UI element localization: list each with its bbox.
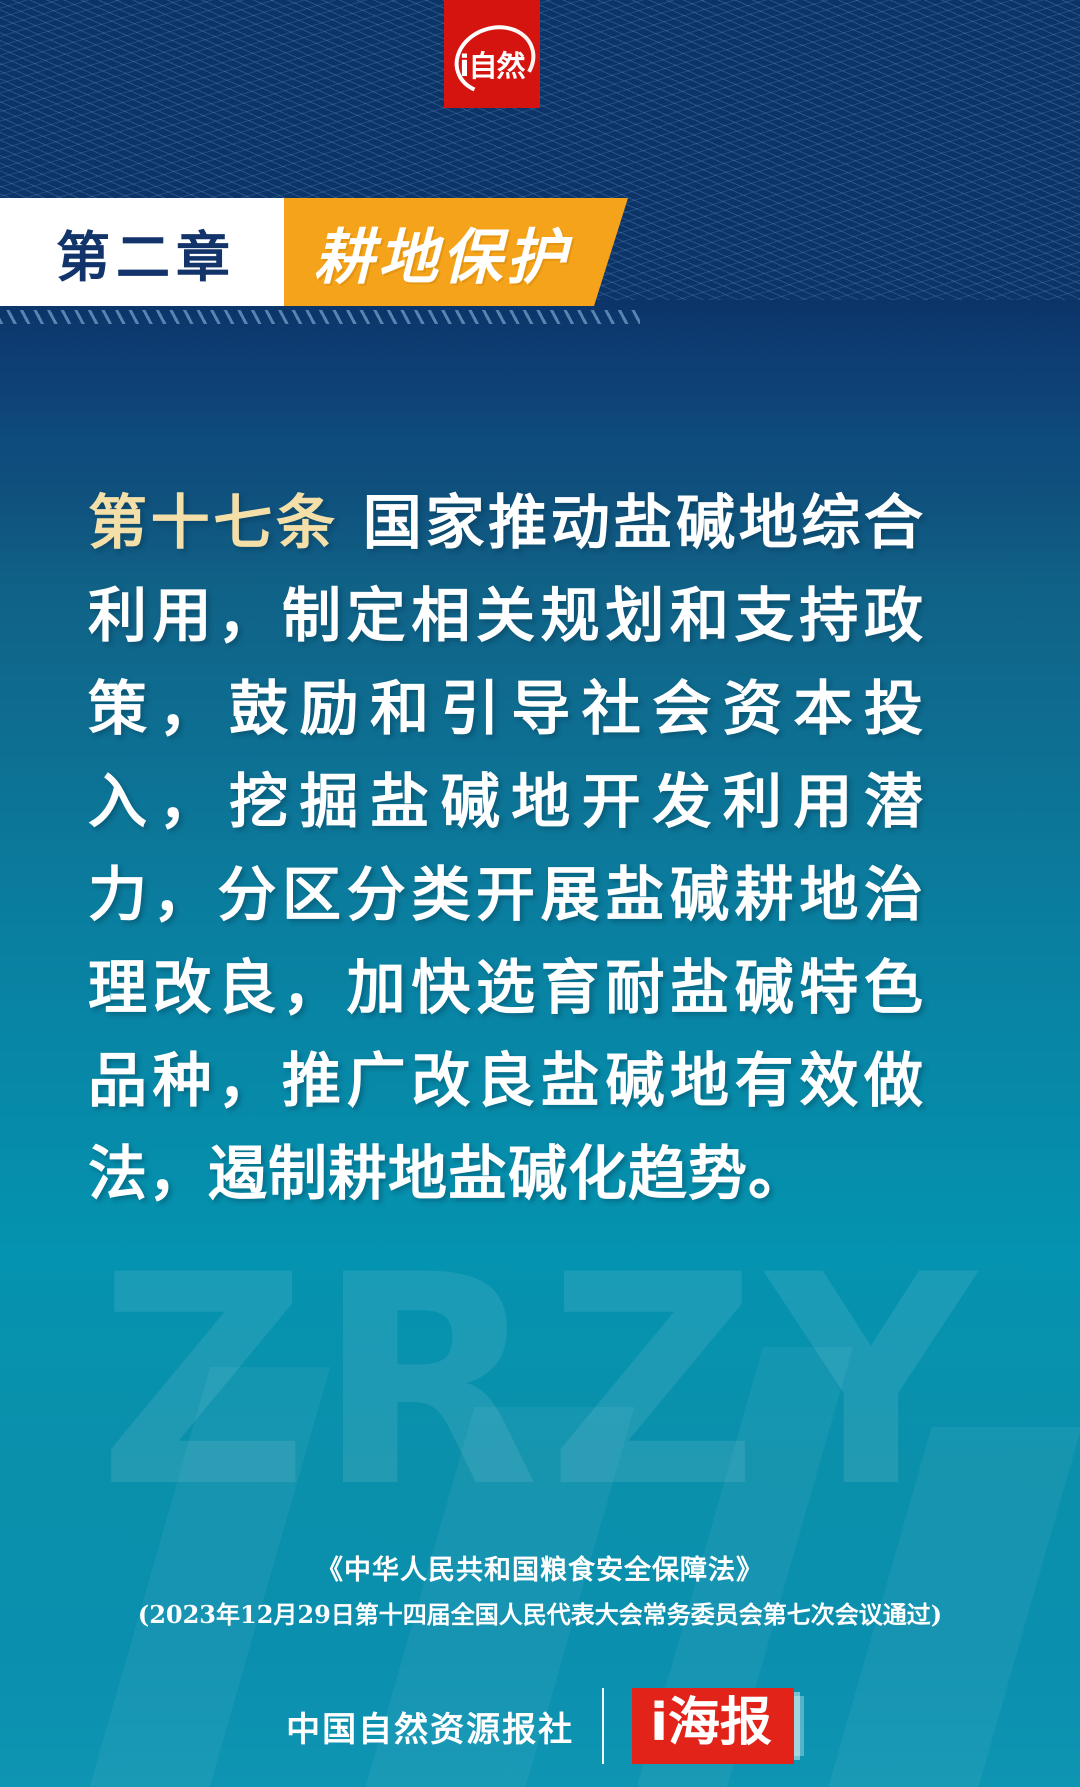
article-paragraph: 第十七条 国家推动盐碱地综合利用，制定相关规划和支持政策，鼓励和引导社会资本投入… — [88, 476, 924, 1220]
footer-brand-row: 中国自然资源报社 i海报 — [0, 1676, 1080, 1776]
article-text: 国家推动盐碱地综合利用，制定相关规划和支持政策，鼓励和引导社会资本投入，挖掘盐碱… — [88, 488, 924, 1208]
chapter-title-wrap: 耕地保护 — [284, 198, 628, 306]
footer-divider — [602, 1688, 604, 1764]
footer-source: 中国自然资源报社 — [286, 1702, 574, 1751]
chapter-number: 第二章 — [0, 198, 284, 306]
poster-root: i自然 第二章 耕地保护 ZRZY 第十七条 国家推动盐碱地综合利用，制定相关规… — [0, 0, 1080, 1787]
logo-label: i自然 — [444, 52, 540, 81]
zrzy-watermark: ZRZY — [0, 1238, 1080, 1528]
citation-block: 《中华人民共和国粮食安全保障法》 (2023年12月29日第十四届全国人民代表大… — [0, 1548, 1080, 1630]
article-body: 第十七条 国家推动盐碱地综合利用，制定相关规划和支持政策，鼓励和引导社会资本投入… — [88, 476, 924, 1220]
law-title: 《中华人民共和国粮食安全保障法》 — [0, 1548, 1080, 1587]
izr-logo: i自然 — [444, 0, 540, 108]
banner-underline-hatch — [0, 310, 640, 324]
ihaibao-badge: i海报 — [632, 1688, 794, 1764]
chapter-title: 耕地保护 — [284, 198, 628, 306]
law-passed-note: (2023年12月29日第十四届全国人民代表大会常务委员会第七次会议通过) — [0, 1595, 1080, 1630]
chapter-banner: 第二章 耕地保护 — [0, 198, 628, 306]
article-number: 第十七条 — [88, 488, 339, 557]
